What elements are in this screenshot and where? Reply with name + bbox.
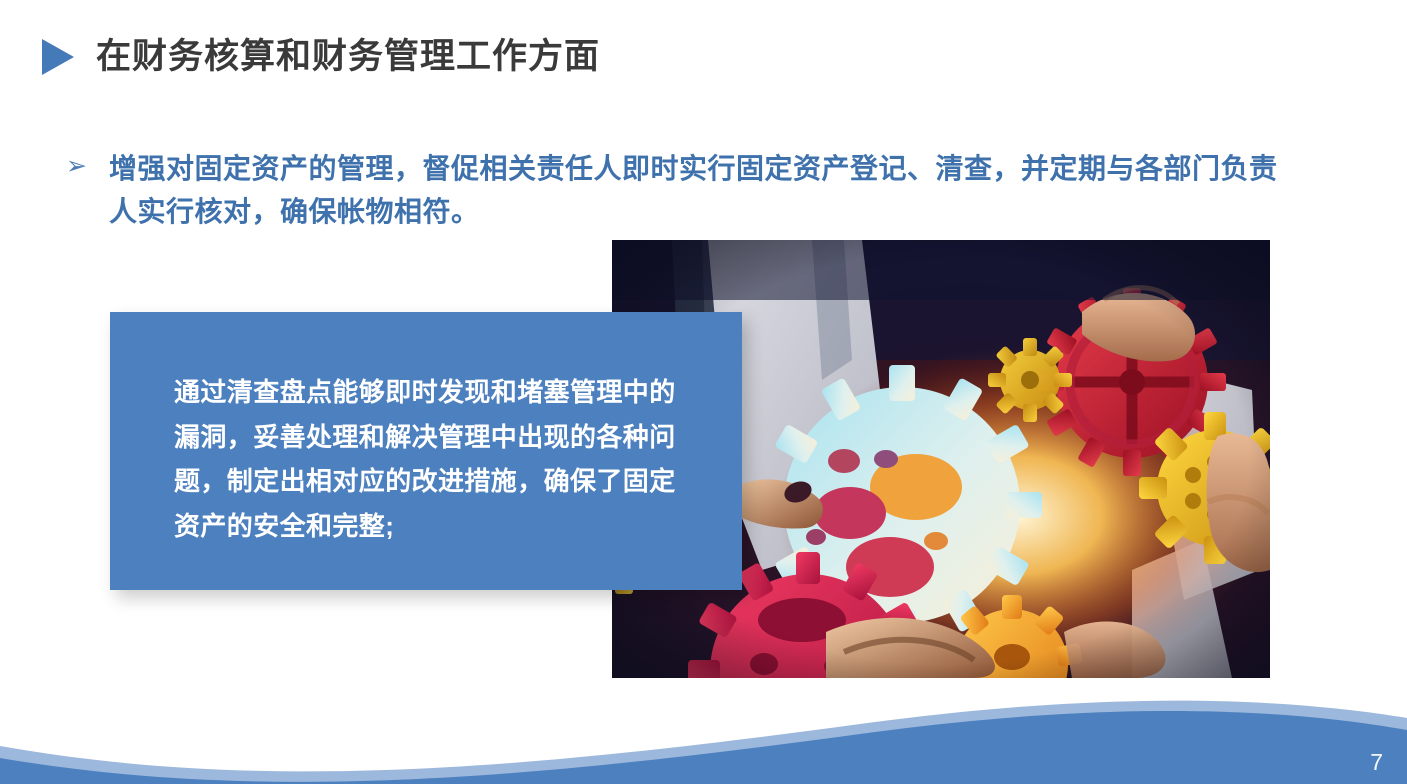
slide-title-row: 在财务核算和财务管理工作方面 <box>42 38 600 77</box>
presentation-slide: 在财务核算和财务管理工作方面 ➢ 增强对固定资产的管理，督促相关责任人即时实行固… <box>0 0 1407 784</box>
bullet-paragraph: ➢ 增强对固定资产的管理，督促相关责任人即时实行固定资产登记、清查，并定期与各部… <box>66 148 1291 233</box>
callout-text: 通过清查盘点能够即时发现和堵塞管理中的漏洞，妥善处理和解决管理中出现的各种问题，… <box>174 370 694 549</box>
bottom-wave-decoration <box>0 674 1407 784</box>
callout-box: 通过清查盘点能够即时发现和堵塞管理中的漏洞，妥善处理和解决管理中出现的各种问题，… <box>110 312 742 590</box>
bullet-paragraph-text: 增强对固定资产的管理，督促相关责任人即时实行固定资产登记、清查，并定期与各部门负… <box>109 148 1291 233</box>
page-number: 7 <box>1370 749 1383 776</box>
arrow-head-right-icon: ➢ <box>66 148 87 184</box>
triangle-right-icon <box>42 39 74 75</box>
page-title: 在财务核算和财务管理工作方面 <box>96 38 600 77</box>
